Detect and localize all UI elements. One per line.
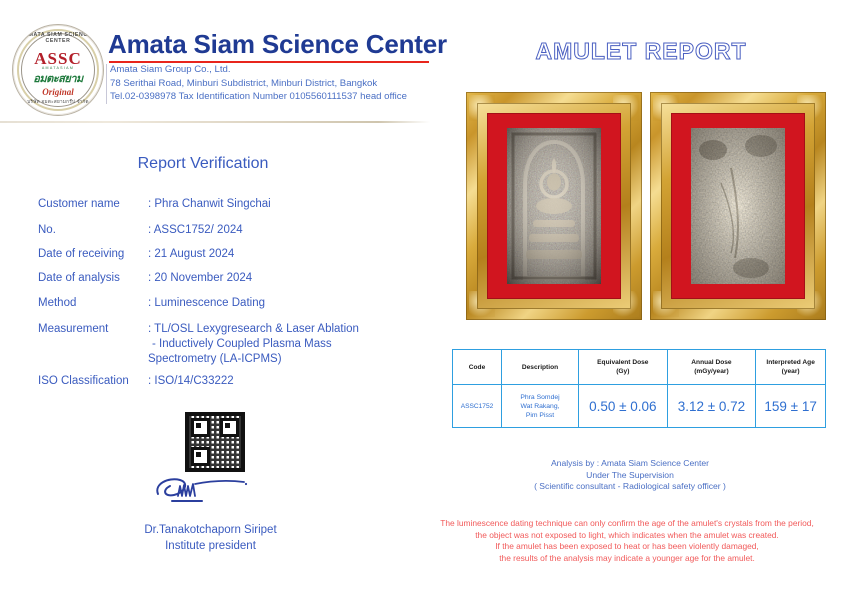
table-header-annual-dose: Annual Dose (mGy/year) bbox=[667, 350, 756, 385]
table-header-equivalent-dose: Equivalent Dose (Gy) bbox=[579, 350, 668, 385]
field-label-method: Method bbox=[38, 297, 76, 309]
table-header-code: Code bbox=[453, 350, 502, 385]
field-value-measurement-line2: - Inductively Coupled Plasma Mass bbox=[152, 338, 332, 350]
amulet-front-photo bbox=[507, 128, 601, 284]
signatory-role: Institute president bbox=[38, 540, 383, 552]
analysis-line-1: Analysis by : Amata Siam Science Center bbox=[430, 458, 830, 470]
qr-finder-bottom-left bbox=[191, 447, 210, 466]
disclaimer-line-1: The luminescence dating technique can on… bbox=[418, 518, 836, 530]
seal-thai-name: อมตะสยาม bbox=[33, 69, 83, 87]
disclaimer-line-3: If the amulet has been exposed to heat o… bbox=[418, 541, 836, 553]
field-value-measurement-line3: Spectrometry (LA-ICPMS) bbox=[148, 353, 282, 365]
qr-finder-top-right bbox=[220, 418, 239, 437]
cell-code: ASSC1752 bbox=[453, 385, 502, 428]
cell-interpreted-age: 159 ± 17 bbox=[756, 385, 826, 428]
company-address: Amata Siam Group Co., Ltd. 78 Serithai R… bbox=[110, 63, 440, 104]
table-header-row: Code Description Equivalent Dose (Gy) An… bbox=[453, 350, 826, 385]
qr-finder-top-left bbox=[191, 418, 210, 437]
seal-arc-bottom-text: บริษัท อมตะสยามกรุ๊ป จำกัด bbox=[13, 99, 103, 106]
analysis-credit: Analysis by : Amata Siam Science Center … bbox=[430, 458, 830, 493]
report-verification-title: Report Verification bbox=[38, 155, 368, 173]
analysis-line-2: Under The Supervision bbox=[430, 470, 830, 482]
address-line-3: Tel.02-0398978 Tax Identification Number… bbox=[110, 90, 440, 104]
seal-original-text: Original bbox=[13, 87, 103, 97]
table-header-description: Description bbox=[502, 350, 579, 385]
analysis-results-table: Code Description Equivalent Dose (Gy) An… bbox=[452, 349, 826, 428]
field-label-date-of-analysis: Date of analysis bbox=[38, 272, 120, 284]
field-value-customer-name: : Phra Chanwit Singchai bbox=[148, 198, 271, 210]
field-value-method: : Luminescence Dating bbox=[148, 297, 265, 309]
disclaimer-note: The luminescence dating technique can on… bbox=[418, 518, 836, 564]
company-title: Amata Siam Science Center bbox=[108, 29, 447, 60]
address-line-2: 78 Serithai Road, Minburi Subdistrict, M… bbox=[110, 77, 440, 91]
field-label-date-of-receiving: Date of receiving bbox=[38, 248, 124, 260]
address-left-bar bbox=[106, 64, 107, 104]
field-label-customer-name: Customer name bbox=[38, 198, 120, 210]
address-line-1: Amata Siam Group Co., Ltd. bbox=[110, 63, 440, 77]
field-value-iso-classification: : ISO/14/C33222 bbox=[148, 375, 234, 387]
cell-description: Phra Somdej Wat Rakang, Pim Pisst bbox=[502, 385, 579, 428]
field-label-iso-classification: ISO Classification bbox=[38, 375, 129, 387]
seal-arc-top-text: AMATA SIAM SCIENCE CENTER bbox=[13, 32, 103, 44]
amulet-back-frame bbox=[650, 92, 826, 320]
seal-thai-name-box: อมตะสยาม bbox=[24, 70, 92, 85]
amulet-report-title: AMULET REPORT bbox=[455, 38, 827, 65]
disclaimer-line-2: the object was not exposed to light, whi… bbox=[418, 530, 836, 542]
signatory-name: Dr.Tanakotchaporn Siripet bbox=[38, 524, 383, 536]
table-row: ASSC1752 Phra Somdej Wat Rakang, Pim Pis… bbox=[453, 385, 826, 428]
field-value-no: : ASSC1752/ 2024 bbox=[148, 224, 243, 236]
disclaimer-line-4: the results of the analysis may indicate… bbox=[418, 553, 836, 565]
field-value-date-of-analysis: : 20 November 2024 bbox=[148, 272, 252, 284]
field-label-measurement: Measurement bbox=[38, 323, 108, 335]
qr-code[interactable] bbox=[185, 412, 245, 472]
amulet-front-frame bbox=[466, 92, 642, 320]
analysis-line-3: ( Scientific consultant - Radiological s… bbox=[430, 481, 830, 493]
field-value-measurement: : TL/OSL Lexygresearch & Laser Ablation bbox=[148, 323, 359, 335]
assc-logo-seal: AMATA SIAM SCIENCE CENTER ASSC AMATASIAM… bbox=[12, 24, 104, 116]
table-header-interpreted-age: Interpreted Age (year) bbox=[756, 350, 826, 385]
cell-equivalent-dose: 0.50 ± 0.06 bbox=[579, 385, 668, 428]
header-divider bbox=[0, 121, 430, 123]
cell-annual-dose: 3.12 ± 0.72 bbox=[667, 385, 756, 428]
signature-mark bbox=[150, 474, 270, 508]
amulet-back-photo bbox=[691, 128, 785, 284]
field-value-date-of-receiving: : 21 August 2024 bbox=[148, 248, 234, 260]
field-label-no: No. bbox=[38, 224, 56, 236]
amulet-report-document: AMATA SIAM SCIENCE CENTER ASSC AMATASIAM… bbox=[0, 0, 842, 595]
